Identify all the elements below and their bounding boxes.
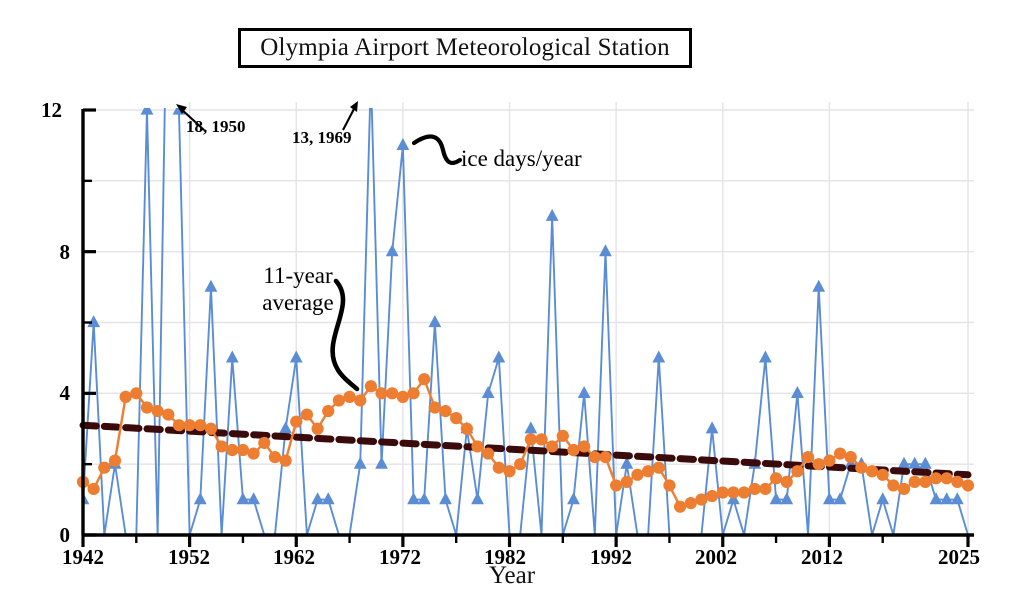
average-marker (184, 419, 196, 431)
trend-dash (424, 444, 437, 445)
trend-dash (637, 456, 650, 457)
chart-page: Olympia Airport Meteorological Station 0… (0, 0, 1024, 592)
ice-days-marker (322, 492, 335, 504)
ice-days-marker (354, 457, 367, 469)
trend-dash (531, 450, 544, 451)
trend-dash (957, 474, 968, 475)
average-marker (173, 419, 185, 431)
average-marker (578, 440, 590, 452)
ice-days-marker (834, 492, 847, 504)
leader-ice-days (414, 137, 460, 163)
ice-days-marker (652, 351, 665, 363)
trend-dash (382, 442, 395, 443)
average-marker (631, 469, 643, 481)
average-marker (855, 462, 867, 474)
ice-days-marker (471, 492, 484, 504)
annotation-peak-1950: 18, 1950 (186, 117, 246, 137)
ice-days-marker (428, 315, 441, 327)
annotation-ice-days-label: ice days/year (461, 146, 582, 172)
average-marker (248, 447, 260, 459)
average-marker (781, 476, 793, 488)
trend-dash (403, 443, 416, 444)
average-marker (685, 497, 697, 509)
average-marker (237, 444, 249, 456)
average-marker (866, 465, 878, 477)
ice-days-marker (439, 492, 452, 504)
average-marker (546, 440, 558, 452)
average-marker (653, 462, 665, 474)
average-marker (162, 408, 174, 420)
ice-days-marker (908, 457, 921, 469)
average-marker (471, 440, 483, 452)
average-marker (493, 462, 505, 474)
average-marker (226, 444, 238, 456)
ice-days-marker (791, 386, 804, 398)
average-marker (567, 444, 579, 456)
average-marker (152, 405, 164, 417)
trend-dash (744, 462, 757, 463)
trend-dash (83, 425, 96, 426)
y-tick-label-4: 4 (36, 381, 70, 406)
average-marker (845, 451, 857, 463)
trend-dash (254, 435, 267, 436)
ice-days-marker (375, 457, 388, 469)
trend-dash (360, 441, 373, 442)
average-marker (663, 479, 675, 491)
trend-dash (893, 471, 906, 472)
ice-days-marker (205, 280, 218, 292)
average-marker (706, 490, 718, 502)
average-marker (535, 433, 547, 445)
average-marker (386, 387, 398, 399)
average-marker (738, 486, 750, 498)
ice-days-marker (396, 138, 409, 150)
trend-dash (680, 459, 693, 460)
trend-dash (510, 449, 523, 450)
average-marker (279, 455, 291, 467)
ice-days-marker (482, 386, 495, 398)
x-axis-title: Year (0, 562, 1024, 590)
ice-days-marker (823, 492, 836, 504)
ice-days-marker (706, 421, 719, 433)
average-marker (216, 440, 228, 452)
axes (82, 109, 974, 547)
ice-days-marker (759, 351, 772, 363)
ice-days-marker (407, 492, 420, 504)
ice-days-marker (770, 492, 783, 504)
trend-dash (318, 438, 331, 439)
ice-days-marker (226, 351, 239, 363)
average-marker (909, 476, 921, 488)
average-marker (375, 387, 387, 399)
trend-dash (659, 457, 672, 458)
ice-days-marker (567, 492, 580, 504)
ice-days-marker (279, 421, 292, 433)
ice-days-marker (386, 244, 399, 256)
average-marker (333, 394, 345, 406)
average-marker (962, 479, 974, 491)
ice-days-marker (247, 492, 260, 504)
average-marker (919, 476, 931, 488)
average-marker (951, 476, 963, 488)
average-marker (887, 479, 899, 491)
average-marker (802, 451, 814, 463)
ice-days-marker (141, 103, 154, 115)
trend-dash (104, 426, 117, 427)
average-marker (461, 423, 473, 435)
average-marker (322, 405, 334, 417)
average-marker (749, 483, 761, 495)
average-marker (141, 401, 153, 413)
ice-days-marker (876, 492, 889, 504)
y-tick-label-8: 8 (36, 240, 70, 265)
ice-days-marker (780, 492, 793, 504)
ice-days-marker (940, 492, 953, 504)
ice-days-marker (546, 209, 559, 221)
average-marker (205, 423, 217, 435)
average-marker (88, 483, 100, 495)
average-marker (98, 462, 110, 474)
average-marker (834, 447, 846, 459)
average-marker (642, 465, 654, 477)
ice-days-marker (578, 386, 591, 398)
average-marker (429, 401, 441, 413)
trend-dash (232, 434, 245, 435)
ice-days-marker (919, 457, 932, 469)
trend-dash (126, 428, 139, 429)
ice-days-marker (194, 492, 207, 504)
average-marker (354, 394, 366, 406)
average-marker (109, 455, 121, 467)
average-marker (589, 451, 601, 463)
average-marker (621, 476, 633, 488)
ice-days-marker (930, 492, 943, 504)
ice-days-marker (311, 492, 324, 504)
average-marker (599, 451, 611, 463)
average-marker (343, 391, 355, 403)
y-tick-label-12: 12 (28, 98, 62, 123)
average-marker (941, 472, 953, 484)
average-marker (727, 486, 739, 498)
average-marker (514, 458, 526, 470)
average-marker (791, 465, 803, 477)
average-marker (770, 472, 782, 484)
ice-days-marker (237, 492, 250, 504)
ice-days-marker (87, 315, 100, 327)
trend-dash (701, 460, 714, 461)
ice-days-marker (290, 351, 303, 363)
ice-days-marker (492, 351, 505, 363)
annotation-average-label: 11-year average (248, 262, 348, 316)
average-marker (610, 479, 622, 491)
trend-dash (296, 437, 309, 438)
trend-dash (339, 440, 352, 441)
average-marker (450, 412, 462, 424)
average-marker (418, 373, 430, 385)
average-marker (823, 455, 835, 467)
annotation-average-line2: average (248, 289, 348, 316)
trend-dash (616, 455, 629, 456)
average-marker (301, 408, 313, 420)
average-marker (759, 483, 771, 495)
ice-days-marker (418, 492, 431, 504)
average-marker (503, 465, 515, 477)
average-marker (482, 447, 494, 459)
average-marker (365, 380, 377, 392)
trend-dash (147, 429, 160, 430)
average-marker (813, 458, 825, 470)
trend-dash (829, 467, 842, 468)
average-marker (130, 387, 142, 399)
average-marker (439, 405, 451, 417)
average-marker (557, 430, 569, 442)
average-marker (930, 472, 942, 484)
annotation-average-line1: 11-year (248, 262, 348, 289)
average-marker (397, 391, 409, 403)
average-marker (695, 493, 707, 505)
average-marker (674, 501, 686, 513)
ice-days-marker (951, 492, 964, 504)
ice-days-marker (898, 457, 911, 469)
trend-dash (446, 446, 459, 447)
average-marker (525, 433, 537, 445)
average-marker (717, 486, 729, 498)
ice-days-marker (599, 244, 612, 256)
trend-dash (915, 472, 928, 473)
chart-svg (0, 0, 1024, 592)
ice-days-marker (812, 280, 825, 292)
chart-area: 0 4 8 12 1942 1952 1962 1972 1982 1992 2… (0, 0, 1024, 592)
trend-dash (275, 436, 288, 437)
average-marker (258, 437, 270, 449)
average-marker (269, 451, 281, 463)
trend-dash (723, 461, 736, 462)
average-marker (290, 416, 302, 428)
average-marker (407, 387, 419, 399)
average-marker (877, 469, 889, 481)
trend-dash (765, 463, 778, 464)
average-marker (898, 483, 910, 495)
trend-dash (190, 431, 203, 432)
average-marker (311, 423, 323, 435)
average-marker (120, 391, 132, 403)
annotation-peak-1969: 13, 1969 (292, 128, 352, 148)
average-marker (194, 419, 206, 431)
ice-days-marker (524, 421, 537, 433)
